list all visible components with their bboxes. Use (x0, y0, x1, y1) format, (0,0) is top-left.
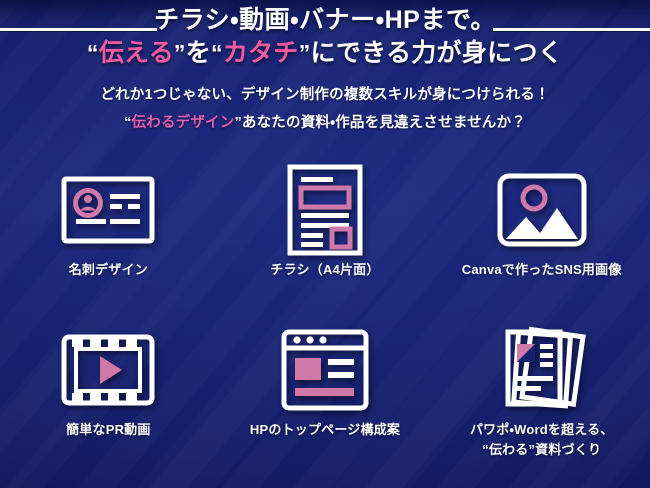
grid-item-sns-image: Canvaで作ったSNS用画像 (433, 160, 650, 320)
quote-open-1: “ (87, 40, 99, 66)
label-line-1: 簡単なPR動画 (66, 422, 150, 437)
subtitle-tail: あなたの資料・作品を見違えさせませんか？ (242, 115, 526, 131)
headline-highlight-katachi: カタチ (223, 39, 299, 67)
business-card-icon (0, 160, 217, 260)
label-line-1: 名刺デザイン (69, 262, 148, 277)
label-line-1: HPのトップページ構成案 (250, 422, 400, 437)
grid-item-label: チラシ（A4片面） (266, 260, 383, 280)
grid-item-presentation-docs: パワポ・Wordを超える、 “伝わる”資料づくり (433, 320, 650, 480)
image-photo-icon (433, 160, 650, 260)
subtitle-line-2: “伝わるデザイン”あなたの資料・作品を見違えさせませんか？ (0, 110, 650, 138)
quote-close-1: ” (174, 40, 186, 66)
subtitle-highlight: 伝わるデザイン (132, 115, 235, 131)
headline-highlight-tsutaeru: 伝える (99, 39, 174, 67)
quote-close-2: ” (299, 40, 311, 66)
label-line-1: パワポ・Wordを超える、 (470, 422, 614, 437)
headline-tail: にできる力が身につく (311, 39, 564, 67)
documents-stack-icon (433, 320, 650, 420)
header-section: チラシ・動画・バナー・HPまで。 “伝える”を“カタチ”にできる力が身につく ど… (0, 0, 650, 137)
grid-item-label: パワポ・Wordを超える、 “伝わる”資料づくり (466, 420, 618, 460)
subtitle-line-1: どれか1つじゃない、デザイン制作の複数スキルが身につけられる！ (0, 82, 650, 110)
promo-banner: チラシ・動画・バナー・HPまで。 “伝える”を“カタチ”にできる力が身につく ど… (0, 0, 650, 488)
grid-item-business-card: 名刺デザイン (0, 160, 217, 320)
grid-item-label: 名刺デザイン (65, 260, 152, 280)
browser-window-icon (217, 320, 434, 420)
subtitle-block: どれか1つじゃない、デザイン制作の複数スキルが身につけられる！ “伝わるデザイン… (0, 82, 650, 137)
subtitle-quote-open: “ (124, 115, 131, 131)
label-line-1: チラシ（A4片面） (270, 262, 379, 277)
grid-item-pr-video: 簡単なPR動画 (0, 320, 217, 480)
label-line-1: Canvaで作ったSNS用画像 (462, 262, 622, 277)
headline-line-1: チラシ・動画・バナー・HPまで。 (0, 6, 650, 36)
grid-item-label: Canvaで作ったSNS用画像 (458, 260, 626, 280)
label-line-2: “伝わる”資料づくり (470, 440, 614, 460)
flyer-document-icon (217, 160, 434, 260)
quote-open-2: “ (211, 40, 223, 66)
grid-item-label: 簡単なPR動画 (62, 420, 154, 440)
subtitle-quote-close: ” (234, 115, 241, 131)
headline-line-2: “伝える”を“カタチ”にできる力が身につく (0, 38, 650, 69)
deliverables-grid: 名刺デザイン チラシ（A4片面） (0, 160, 650, 480)
grid-item-homepage-layout: HPのトップページ構成案 (217, 320, 434, 480)
grid-item-flyer: チラシ（A4片面） (217, 160, 434, 320)
headline-mid-wo: を (186, 39, 211, 67)
film-video-icon (0, 320, 217, 420)
grid-item-label: HPのトップページ構成案 (246, 420, 404, 440)
